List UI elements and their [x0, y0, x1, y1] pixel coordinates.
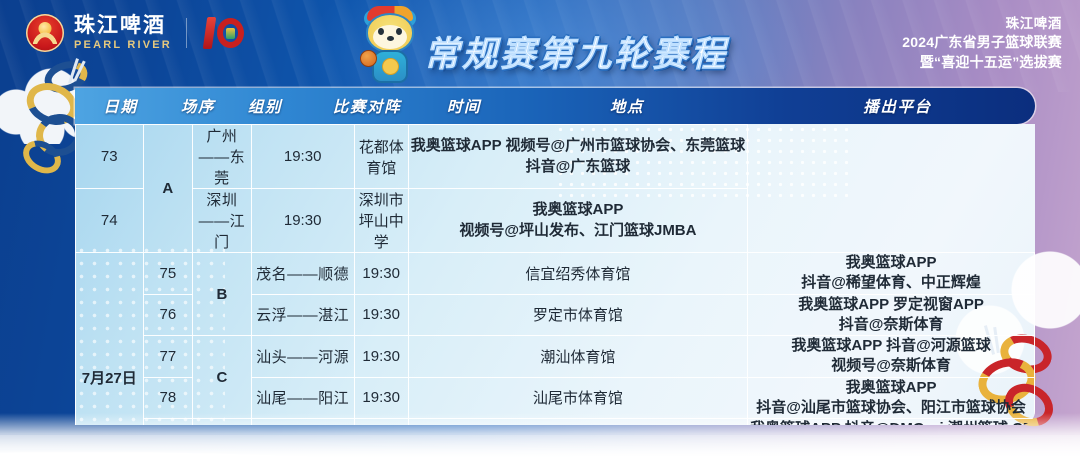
cell-match-no: 77 — [143, 336, 193, 378]
broadcast-line: 我奥篮球APP 罗定视窗APP — [750, 295, 1032, 315]
cell-group: D — [193, 419, 251, 426]
cell-matchup: 广州——东莞 — [193, 125, 251, 189]
cell-venue: 潮汕体育馆 — [408, 336, 747, 378]
cell-venue: 深圳市坪山中学 — [354, 189, 408, 253]
broadcast-line: 抖音@奈斯体育 — [750, 315, 1032, 335]
brand-name-cn: 珠江啤酒 — [74, 15, 172, 36]
event-title-block: 珠江啤酒 2024广东省男子篮球联赛 暨“喜迎十五运”选拔赛 — [902, 14, 1062, 73]
col-header-match: 比赛对阵 — [300, 95, 434, 117]
cell-venue: 花都体育馆 — [354, 125, 408, 189]
event-title-line2: 2024广东省男子篮球联赛 — [902, 33, 1062, 53]
cell-venue: 汕尾市体育馆 — [408, 377, 747, 419]
brand-divider — [186, 18, 187, 48]
cell-date: 7月27日 — [76, 253, 144, 426]
cell-matchup: 深圳——江门 — [193, 189, 251, 253]
cell-match-no: 78 — [143, 377, 193, 419]
cell-group: A — [143, 125, 193, 253]
table-row: 73A广州——东莞19:30花都体育馆我奥篮球APP 视频号@广州市篮球协会、东… — [76, 125, 1035, 189]
table-body: 73A广州——东莞19:30花都体育馆我奥篮球APP 视频号@广州市篮球协会、东… — [75, 124, 1035, 425]
cell-matchup: 汕头——河源 — [251, 336, 354, 378]
cell-time: 19:30 — [354, 419, 408, 426]
broadcast-line: 我奥篮球APP — [750, 378, 1032, 398]
cell-match-no: 74 — [76, 189, 144, 253]
broadcast-line: 抖音@汕尾市篮球协会、阳江市篮球协会 — [750, 398, 1032, 418]
table-header-row: 日期 场序 组别 比赛对阵 时间 地点 播出平台 — [75, 88, 1035, 124]
cell-time: 19:30 — [354, 336, 408, 378]
cell-match-no: 76 — [143, 294, 193, 336]
brand-name-en: PEARL RIVER — [74, 40, 172, 51]
schedule-table: 日期 场序 组别 比赛对阵 时间 地点 播出平台 73A广州——东莞19:30花… — [75, 88, 1035, 425]
event-title-line3: 暨“喜迎十五运”选拔赛 — [902, 53, 1062, 73]
cell-match-no: 73 — [76, 125, 144, 189]
brand-text: 珠江啤酒 PEARL RIVER — [74, 15, 172, 51]
col-header-time: 时间 — [434, 95, 494, 117]
cell-broadcast: 我奥篮球APP抖音@稀望体育、中正辉煌 — [748, 253, 1035, 295]
cell-match-no: 75 — [143, 253, 193, 295]
table-row: 7月27日75B茂名——顺德19:30信宜绍秀体育馆我奥篮球APP抖音@稀望体育… — [76, 253, 1035, 295]
col-header-broadcast: 播出平台 — [760, 95, 1035, 117]
cell-broadcast: 我奥篮球APP 视频号@广州市篮球协会、东莞篮球抖音@广东篮球 — [408, 125, 747, 189]
broadcast-line: 我奥篮球APP — [411, 200, 745, 220]
brand-lockup: 珠江啤酒 PEARL RIVER — [26, 14, 247, 52]
table-row: 77C汕头——河源19:30潮汕体育馆我奥篮球APP 抖音@河源篮球视频号@奈斯… — [76, 336, 1035, 378]
broadcast-line: 抖音@稀望体育、中正辉煌 — [750, 273, 1032, 293]
anniversary-10-icon — [201, 15, 247, 51]
cell-match-no: 79 — [143, 419, 193, 426]
broadcast-line: 视频号@奈斯体育 — [750, 356, 1032, 376]
pearl-river-logo-icon — [26, 14, 64, 52]
col-header-no: 场序 — [166, 95, 230, 117]
col-header-group: 组别 — [230, 95, 300, 117]
event-title-line1: 珠江啤酒 — [902, 14, 1062, 33]
table-row: 74深圳——江门19:30深圳市坪山中学我奥篮球APP视频号@坪山发布、江门篮球… — [76, 189, 1035, 253]
col-header-venue: 地点 — [494, 95, 760, 117]
cell-broadcast: 我奥篮球APP抖音@汕尾市篮球协会、阳江市篮球协会 — [748, 377, 1035, 419]
cell-matchup: 汕尾——阳江 — [251, 377, 354, 419]
broadcast-line: 我奥篮球APP 视频号@广州市篮球协会、东莞篮球 — [411, 136, 745, 156]
broadcast-line: 抖音@广东篮球 — [411, 157, 745, 177]
cell-time: 19:30 — [354, 294, 408, 336]
cell-venue: 端州体育馆 — [408, 419, 747, 426]
broadcast-line: 我奥篮球APP 抖音@DMG、i 潮州篮球 CZ — [750, 419, 1032, 425]
cell-venue: 罗定市体育馆 — [408, 294, 747, 336]
col-header-date: 日期 — [75, 95, 166, 117]
cell-matchup: 云浮——湛江 — [251, 294, 354, 336]
cell-time: 19:30 — [251, 189, 354, 253]
cell-broadcast: 我奥篮球APP视频号@坪山发布、江门篮球JMBA — [408, 189, 747, 253]
cell-time: 19:30 — [354, 377, 408, 419]
schedule-rows: 73A广州——东莞19:30花都体育馆我奥篮球APP 视频号@广州市篮球协会、东… — [75, 124, 1035, 425]
poster-root: 珠江啤酒 PEARL RIVER 珠江啤酒 2024广东省男子篮球联赛 暨“喜迎… — [0, 0, 1080, 465]
broadcast-line: 我奥篮球APP 抖音@河源篮球 — [750, 336, 1032, 356]
broadcast-line: 我奥篮球APP — [750, 253, 1032, 273]
cell-broadcast: 我奥篮球APP 抖音@DMG、i 潮州篮球 CZ视频号@广东篮球 — [748, 419, 1035, 426]
cell-group: B — [193, 253, 251, 336]
cell-time: 19:30 — [251, 125, 354, 189]
cloud-decoration-bottom-fade — [0, 435, 1080, 465]
cell-broadcast: 我奥篮球APP 抖音@河源篮球视频号@奈斯体育 — [748, 336, 1035, 378]
table-row: 79D肇庆——潮州19:30端州体育馆我奥篮球APP 抖音@DMG、i 潮州篮球… — [76, 419, 1035, 426]
page-title: 常规赛第九轮赛程 — [424, 26, 728, 77]
cell-matchup: 茂名——顺德 — [251, 253, 354, 295]
cell-venue: 信宜绍秀体育馆 — [408, 253, 747, 295]
broadcast-line: 视频号@坪山发布、江门篮球JMBA — [411, 221, 745, 241]
cell-time: 19:30 — [354, 253, 408, 295]
cell-matchup: 肇庆——潮州 — [251, 419, 354, 426]
mascot-icon — [358, 6, 422, 88]
cell-broadcast: 我奥篮球APP 罗定视窗APP抖音@奈斯体育 — [748, 294, 1035, 336]
cell-group: C — [193, 336, 251, 419]
